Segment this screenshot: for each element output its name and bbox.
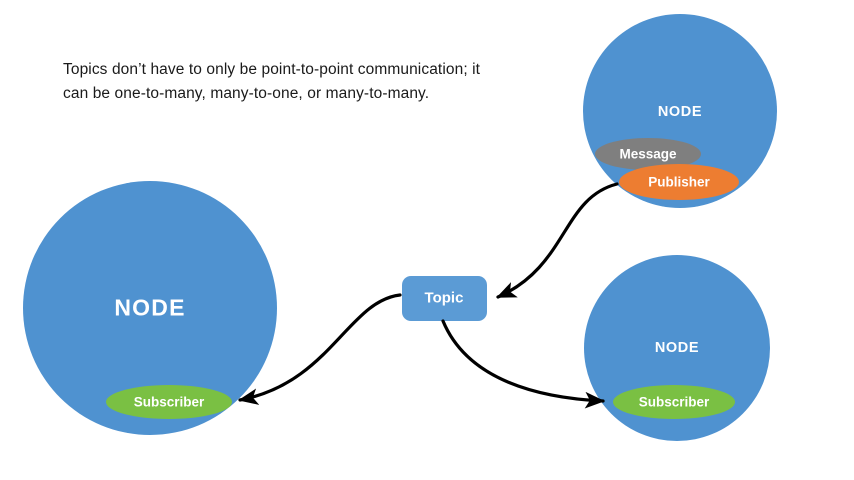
connector-topic-to-subscriber-right bbox=[443, 321, 603, 401]
publisher-label: Publisher bbox=[648, 175, 710, 190]
slide-canvas: Topics don’t have to only be point-to-po… bbox=[0, 0, 854, 480]
connector-publisher-to-topic bbox=[498, 184, 617, 297]
subscriber-left-label: Subscriber bbox=[134, 395, 205, 410]
caption-text: Topics don’t have to only be point-to-po… bbox=[63, 58, 483, 106]
subscriber-right-label: Subscriber bbox=[639, 395, 710, 410]
subscriber-node-right-label: NODE bbox=[655, 340, 699, 356]
subscriber-node-left-label: NODE bbox=[114, 295, 185, 322]
message-label: Message bbox=[619, 147, 676, 162]
topic-box-label: Topic bbox=[425, 290, 464, 307]
publisher-node-label: NODE bbox=[658, 104, 702, 120]
